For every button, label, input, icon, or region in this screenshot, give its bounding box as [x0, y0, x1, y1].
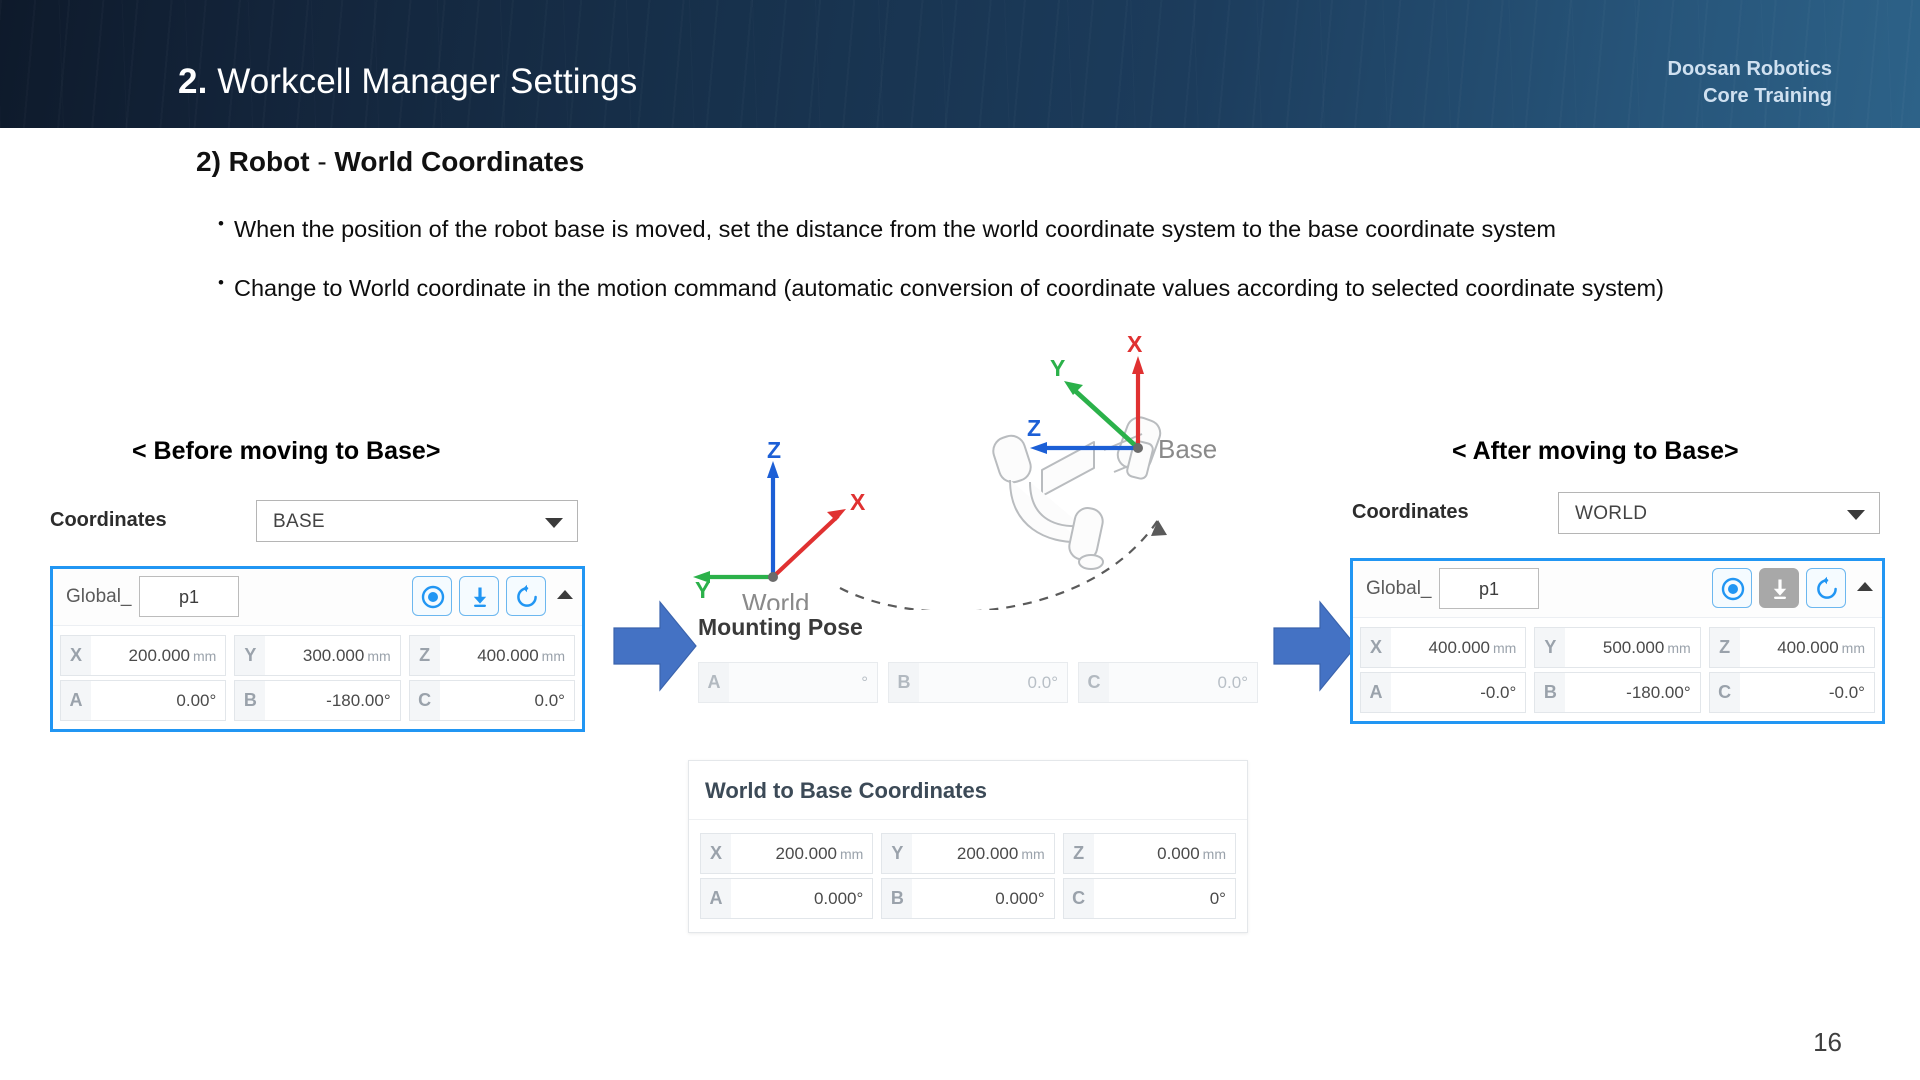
target-icon — [420, 584, 446, 610]
svg-text:Z: Z — [767, 437, 781, 463]
right-arrow-icon — [1272, 598, 1358, 694]
before-toolbar — [412, 576, 546, 616]
brand-block: Doosan Robotics Core Training — [1668, 56, 1832, 110]
field-c[interactable]: C 0.0° — [409, 680, 575, 721]
field-c-value: -0.0° — [1740, 683, 1874, 703]
field-b-value: -180.00° — [265, 691, 399, 711]
bullet-list: When the position of the robot base is m… — [218, 212, 1698, 330]
field-a-key: A — [61, 681, 91, 720]
world-to-base-header: World to Base Coordinates — [689, 761, 1247, 820]
brand-line-2: Core Training — [1668, 83, 1832, 110]
field-x-key: X — [1361, 628, 1391, 667]
w2b-field-y-value: 200.000mm — [912, 844, 1053, 864]
w2b-field-x[interactable]: X 200.000mm — [700, 833, 873, 874]
section-number: 2. — [178, 62, 207, 101]
before-coordinates-label: Coordinates — [50, 509, 167, 532]
field-z-key: Z — [410, 636, 440, 675]
field-b[interactable]: B -180.00° — [1534, 672, 1700, 713]
slide-subtitle: 2) Robot - World Coordinates — [196, 146, 584, 178]
svg-text:Base: Base — [1158, 434, 1217, 464]
field-y[interactable]: Y 300.000mm — [234, 635, 400, 676]
w2b-field-b-value: 0.000° — [912, 889, 1053, 909]
mounting-field-b-value: 0.0° — [919, 673, 1067, 693]
before-point-name-input[interactable]: p1 — [139, 576, 239, 617]
w2b-field-x-key: X — [701, 834, 731, 873]
svg-text:Z: Z — [1027, 415, 1041, 441]
field-y-value: 500.000mm — [1565, 638, 1699, 658]
mounting-field-b[interactable]: B 0.0° — [888, 662, 1068, 703]
after-point-name-input[interactable]: p1 — [1439, 568, 1539, 609]
slide-header: 2. Workcell Manager Settings Doosan Robo… — [0, 0, 1920, 128]
after-point-name-value: p1 — [1440, 579, 1538, 600]
field-x-value: 400.000mm — [1391, 638, 1525, 658]
field-c-key: C — [1710, 673, 1740, 712]
world-frame: Z Y X World — [693, 437, 866, 610]
mounting-field-b-key: B — [889, 663, 919, 702]
world-to-base-row-abc: A 0.000° B 0.000° C 0° — [700, 878, 1236, 919]
refresh-icon — [514, 584, 540, 610]
subtitle-prefix: 2) Robot — [196, 146, 310, 177]
before-pose-header: Global_ p1 — [53, 569, 582, 626]
field-b-value: -180.00° — [1565, 683, 1699, 703]
world-to-base-row-xyz: X 200.000mm Y 200.000mm Z 0.000mm — [700, 833, 1236, 874]
w2b-field-a-key: A — [701, 879, 731, 918]
bullet-item: When the position of the robot base is m… — [218, 212, 1698, 247]
w2b-field-c-value: 0° — [1094, 889, 1235, 909]
target-icon-button[interactable] — [412, 576, 452, 616]
mounting-pose-title: Mounting Pose — [698, 614, 863, 641]
field-y-key: Y — [1535, 628, 1565, 667]
field-x[interactable]: X 400.000mm — [1360, 627, 1526, 668]
collapse-caret-icon[interactable] — [557, 590, 573, 599]
after-coordinates-label: Coordinates — [1352, 501, 1469, 524]
mounting-field-a[interactable]: A ° — [698, 662, 878, 703]
brand-line-1: Doosan Robotics — [1668, 56, 1832, 83]
after-pose-header: Global_ p1 — [1353, 561, 1882, 618]
field-z-value: 400.000mm — [1740, 638, 1874, 658]
collapse-caret-icon[interactable] — [1857, 582, 1873, 591]
svg-text:Y: Y — [1050, 355, 1065, 381]
mounting-field-a-key: A — [699, 663, 729, 702]
chevron-down-icon — [545, 518, 563, 528]
after-global-label: Global_ — [1366, 578, 1432, 600]
field-x[interactable]: X 200.000mm — [60, 635, 226, 676]
w2b-field-z-key: Z — [1064, 834, 1094, 873]
w2b-field-b-key: B — [882, 879, 912, 918]
after-caption: < After moving to Base> — [1452, 437, 1739, 466]
subtitle-dash: - — [317, 146, 326, 177]
page-title: 2. Workcell Manager Settings — [178, 62, 637, 102]
w2b-field-c[interactable]: C 0° — [1063, 878, 1236, 919]
svg-text:Y: Y — [695, 577, 710, 603]
w2b-field-b[interactable]: B 0.000° — [881, 878, 1054, 919]
target-icon-button[interactable] — [1712, 568, 1752, 608]
field-z-value: 400.000mm — [440, 646, 574, 666]
mounting-field-a-value: ° — [729, 673, 877, 693]
world-to-base-card: World to Base Coordinates X 200.000mm Y … — [688, 760, 1248, 933]
refresh-icon-button[interactable] — [506, 576, 546, 616]
svg-text:X: X — [850, 489, 866, 515]
field-c[interactable]: C -0.0° — [1709, 672, 1875, 713]
download-icon-button — [1759, 568, 1799, 608]
mounting-field-c-value: 0.0° — [1109, 673, 1257, 693]
chevron-down-icon — [1847, 510, 1865, 520]
before-coordinates-value: BASE — [273, 511, 325, 533]
refresh-icon-button[interactable] — [1806, 568, 1846, 608]
w2b-field-z[interactable]: Z 0.000mm — [1063, 833, 1236, 874]
after-toolbar — [1712, 568, 1846, 608]
w2b-field-z-value: 0.000mm — [1094, 844, 1235, 864]
field-b-key: B — [1535, 673, 1565, 712]
field-z-key: Z — [1710, 628, 1740, 667]
field-a[interactable]: A -0.0° — [1360, 672, 1526, 713]
before-coordinates-dropdown[interactable]: BASE — [256, 500, 578, 542]
field-z[interactable]: Z 400.000mm — [409, 635, 575, 676]
field-a-value: -0.0° — [1391, 683, 1525, 703]
field-a-key: A — [1361, 673, 1391, 712]
mounting-field-c-key: C — [1079, 663, 1109, 702]
download-icon — [1767, 576, 1793, 602]
w2b-field-y[interactable]: Y 200.000mm — [881, 833, 1054, 874]
after-pose-row-abc: A -0.0° B -180.00° C -0.0° — [1360, 672, 1875, 713]
subtitle-main: World Coordinates — [334, 146, 584, 177]
before-pose-row-abc: A 0.00° B -180.00° C 0.0° — [60, 680, 575, 721]
field-c-value: 0.0° — [440, 691, 574, 711]
refresh-icon — [1814, 576, 1840, 602]
flow-arrow-right — [1272, 598, 1358, 694]
field-z[interactable]: Z 400.000mm — [1709, 627, 1875, 668]
bullet-item: Change to World coordinate in the motion… — [218, 271, 1698, 306]
target-icon — [1720, 576, 1746, 602]
coordinate-frames-diagram: Z Y X World X Y Z Base — [690, 330, 1270, 610]
flow-arrow-left — [612, 598, 698, 694]
right-arrow-icon — [612, 598, 698, 694]
w2b-field-a[interactable]: A 0.000° — [700, 878, 873, 919]
w2b-field-a-value: 0.000° — [731, 889, 872, 909]
field-a-value: 0.00° — [91, 691, 225, 711]
mounting-field-c[interactable]: C 0.0° — [1078, 662, 1258, 703]
field-c-key: C — [410, 681, 440, 720]
field-x-value: 200.000mm — [91, 646, 225, 666]
field-y-key: Y — [235, 636, 265, 675]
svg-text:World: World — [742, 588, 809, 610]
before-point-name-value: p1 — [140, 587, 238, 608]
w2b-field-c-key: C — [1064, 879, 1094, 918]
before-pose-row-xyz: X 200.000mm Y 300.000mm Z 400.000mm — [60, 635, 575, 676]
after-pose-row-xyz: X 400.000mm Y 500.000mm Z 400.000mm — [1360, 627, 1875, 668]
before-pose-panel: Global_ p1 — [50, 566, 585, 732]
download-icon-button[interactable] — [459, 576, 499, 616]
section-title: Workcell Manager Settings — [217, 62, 637, 101]
field-b[interactable]: B -180.00° — [234, 680, 400, 721]
page-number: 16 — [1813, 1027, 1842, 1058]
after-coordinates-dropdown[interactable]: WORLD — [1558, 492, 1880, 534]
after-pose-panel: Global_ p1 — [1350, 558, 1885, 724]
w2b-field-x-value: 200.000mm — [731, 844, 872, 864]
field-b-key: B — [235, 681, 265, 720]
before-caption: < Before moving to Base> — [132, 437, 440, 466]
svg-text:X: X — [1127, 331, 1143, 357]
download-icon — [467, 584, 493, 610]
after-coordinates-value: WORLD — [1575, 503, 1647, 525]
field-a[interactable]: A 0.00° — [60, 680, 226, 721]
after-pose-grid: X 400.000mm Y 500.000mm Z 400.000mm A -0… — [1353, 618, 1882, 721]
mounting-pose-row: A ° B 0.0° C 0.0° — [698, 662, 1258, 703]
field-y-value: 300.000mm — [265, 646, 399, 666]
world-to-base-body: X 200.000mm Y 200.000mm Z 0.000mm A 0.00… — [689, 820, 1247, 932]
field-y[interactable]: Y 500.000mm — [1534, 627, 1700, 668]
before-global-label: Global_ — [66, 586, 132, 608]
w2b-field-y-key: Y — [882, 834, 912, 873]
before-pose-grid: X 200.000mm Y 300.000mm Z 400.000mm A 0.… — [53, 626, 582, 729]
world-to-base-title: World to Base Coordinates — [705, 778, 987, 804]
field-x-key: X — [61, 636, 91, 675]
